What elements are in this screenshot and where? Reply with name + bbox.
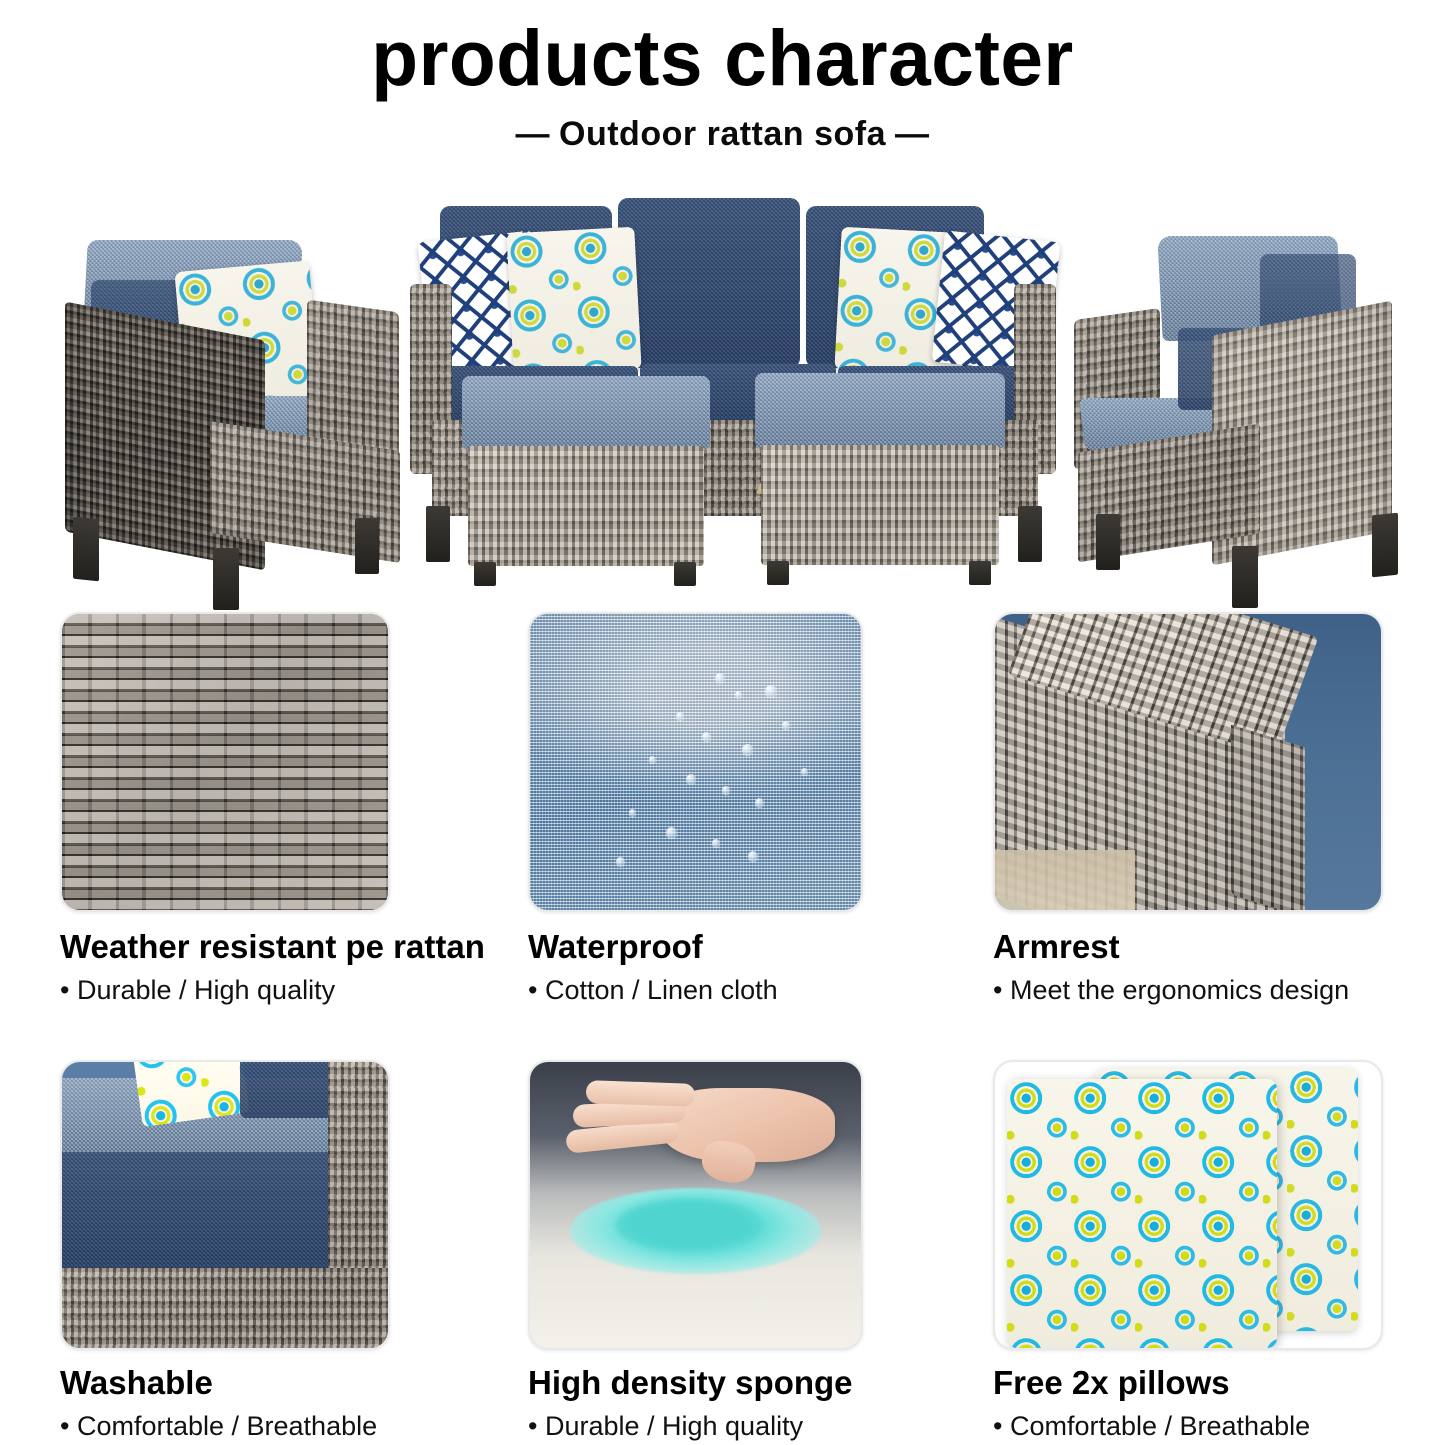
left-armchair-leg-mid — [213, 548, 239, 610]
left-armchair-leg-back — [355, 518, 379, 574]
feature-title: Washable — [60, 1366, 530, 1401]
water-droplet — [801, 768, 808, 775]
water-droplet — [765, 685, 777, 697]
armrest-front-edge — [1231, 725, 1305, 912]
water-droplet — [755, 798, 764, 807]
feature-card-high-density-sponge[interactable]: High density sponge • Durable / High qua… — [528, 1060, 978, 1440]
subtitle-word-sofa: sofa — [814, 115, 886, 153]
feature-title: High density sponge — [528, 1366, 978, 1401]
subtitle-word-outdoor: Outdoor — [559, 115, 697, 153]
ottoman-left-leg-l — [474, 562, 496, 586]
rattan-weave-closeup-image — [62, 614, 388, 910]
title-word-products: products — [371, 13, 703, 102]
feature-card-armrest[interactable]: Armrest • Meet the ergonomics design — [993, 612, 1393, 1004]
feature-row-top: Weather resistant pe rattan • Durable / … — [0, 612, 1445, 1060]
water-droplet — [712, 839, 720, 847]
subtitle-word-rattan: rattan — [707, 115, 804, 153]
foam-imprint-core — [616, 1199, 762, 1250]
sofa-leg-left — [426, 506, 450, 562]
water-droplet — [666, 827, 677, 838]
page-title: productscharacter — [22, 0, 1424, 97]
ottoman-left-cushion — [462, 376, 710, 450]
sponge-thumbnail — [528, 1060, 863, 1350]
washable-pillow-shadow — [240, 1060, 332, 1118]
feature-row-bottom: Washable • Comfortable / Breathable — [0, 1060, 1445, 1445]
right-armchair-leg-mid — [1232, 546, 1258, 608]
ottoman-right-leg-l — [767, 561, 789, 585]
hand-finger-3 — [586, 1080, 696, 1107]
subtitle-dash-right: — — [895, 115, 930, 154]
water-droplet — [629, 809, 636, 816]
water-droplet — [748, 851, 758, 861]
armrest-floor-shadow — [995, 850, 1135, 910]
water-droplet — [722, 786, 730, 794]
ottoman-right — [755, 373, 1005, 588]
feature-card-waterproof[interactable]: Waterproof • Cotton / Linen cloth — [528, 612, 978, 1004]
feature-card-free-2x-pillows[interactable]: Free 2x pillows • Comfortable / Breathab… — [993, 1060, 1393, 1440]
washable-wicker-base — [60, 1268, 390, 1350]
feature-card-washable[interactable]: Washable • Comfortable / Breathable — [60, 1060, 530, 1440]
washable-cushion-image — [62, 1062, 388, 1348]
feature-subtitle: • Meet the ergonomics design — [993, 976, 1393, 1004]
feature-title: Free 2x pillows — [993, 1366, 1393, 1401]
weather-resistant-thumbnail — [60, 612, 390, 912]
feature-title: Waterproof — [528, 930, 978, 965]
pillows-thumbnail — [993, 1060, 1383, 1350]
pillow-front — [1007, 1079, 1277, 1348]
ottoman-right-cushion — [755, 373, 1005, 449]
water-droplet — [715, 673, 725, 683]
hand-pressing-foam-image — [530, 1062, 861, 1348]
subtitle-dash-left: — — [516, 115, 551, 154]
washable-thumbnail — [60, 1060, 390, 1350]
ottoman-left-leg-r — [674, 562, 696, 586]
sofa-leg-right — [1018, 506, 1042, 562]
two-medallion-pillows-image — [995, 1062, 1381, 1348]
right-armchair-leg-front — [1372, 513, 1398, 578]
page-subtitle: —Outdoorrattansofa— — [0, 115, 1445, 154]
right-armchair — [1060, 218, 1400, 578]
left-armchair-leg-front — [73, 517, 99, 582]
left-armchair-far-arm — [307, 300, 399, 461]
water-droplet — [616, 857, 625, 866]
product-feature-infographic: productscharacter —Outdoorrattansofa— — [0, 0, 1445, 1445]
water-droplet — [649, 756, 656, 763]
waterproof-thumbnail — [528, 612, 863, 912]
sofa-pillow-medallion-left — [506, 227, 641, 376]
feature-title: Armrest — [993, 930, 1393, 965]
title-word-character: character — [724, 13, 1073, 102]
feature-grid: Weather resistant pe rattan • Durable / … — [0, 612, 1445, 1445]
feature-card-weather-resistant-pe-rattan[interactable]: Weather resistant pe rattan • Durable / … — [60, 612, 530, 1004]
ottoman-right-base — [761, 445, 999, 565]
feature-subtitle: • Comfortable / Breathable — [993, 1412, 1393, 1440]
waterproof-fabric-droplets-image — [530, 614, 861, 910]
feature-subtitle: • Durable / High quality — [60, 976, 530, 1004]
hero-product-image — [0, 178, 1445, 598]
header: productscharacter —Outdoorrattansofa— — [0, 0, 1445, 154]
water-droplet — [742, 744, 753, 755]
armrest-closeup-image — [995, 614, 1381, 910]
water-droplet — [735, 691, 742, 698]
right-armchair-leg-back — [1096, 514, 1120, 570]
washable-cushion-body — [60, 1152, 358, 1282]
armrest-thumbnail — [993, 612, 1383, 912]
feature-title: Weather resistant pe rattan — [60, 930, 530, 965]
feature-subtitle: • Cotton / Linen cloth — [528, 976, 978, 1004]
water-droplet — [782, 721, 790, 729]
water-droplet — [702, 732, 711, 741]
ottoman-left-base — [468, 446, 704, 566]
water-droplet — [686, 774, 696, 784]
ottoman-right-leg-r — [969, 561, 991, 585]
feature-subtitle: • Durable / High quality — [528, 1412, 978, 1440]
feature-subtitle: • Comfortable / Breathable — [60, 1412, 530, 1440]
ottoman-left — [462, 376, 710, 588]
water-droplet — [676, 712, 684, 720]
left-armchair — [55, 218, 405, 578]
sofa-back-cushion-2 — [618, 198, 800, 368]
